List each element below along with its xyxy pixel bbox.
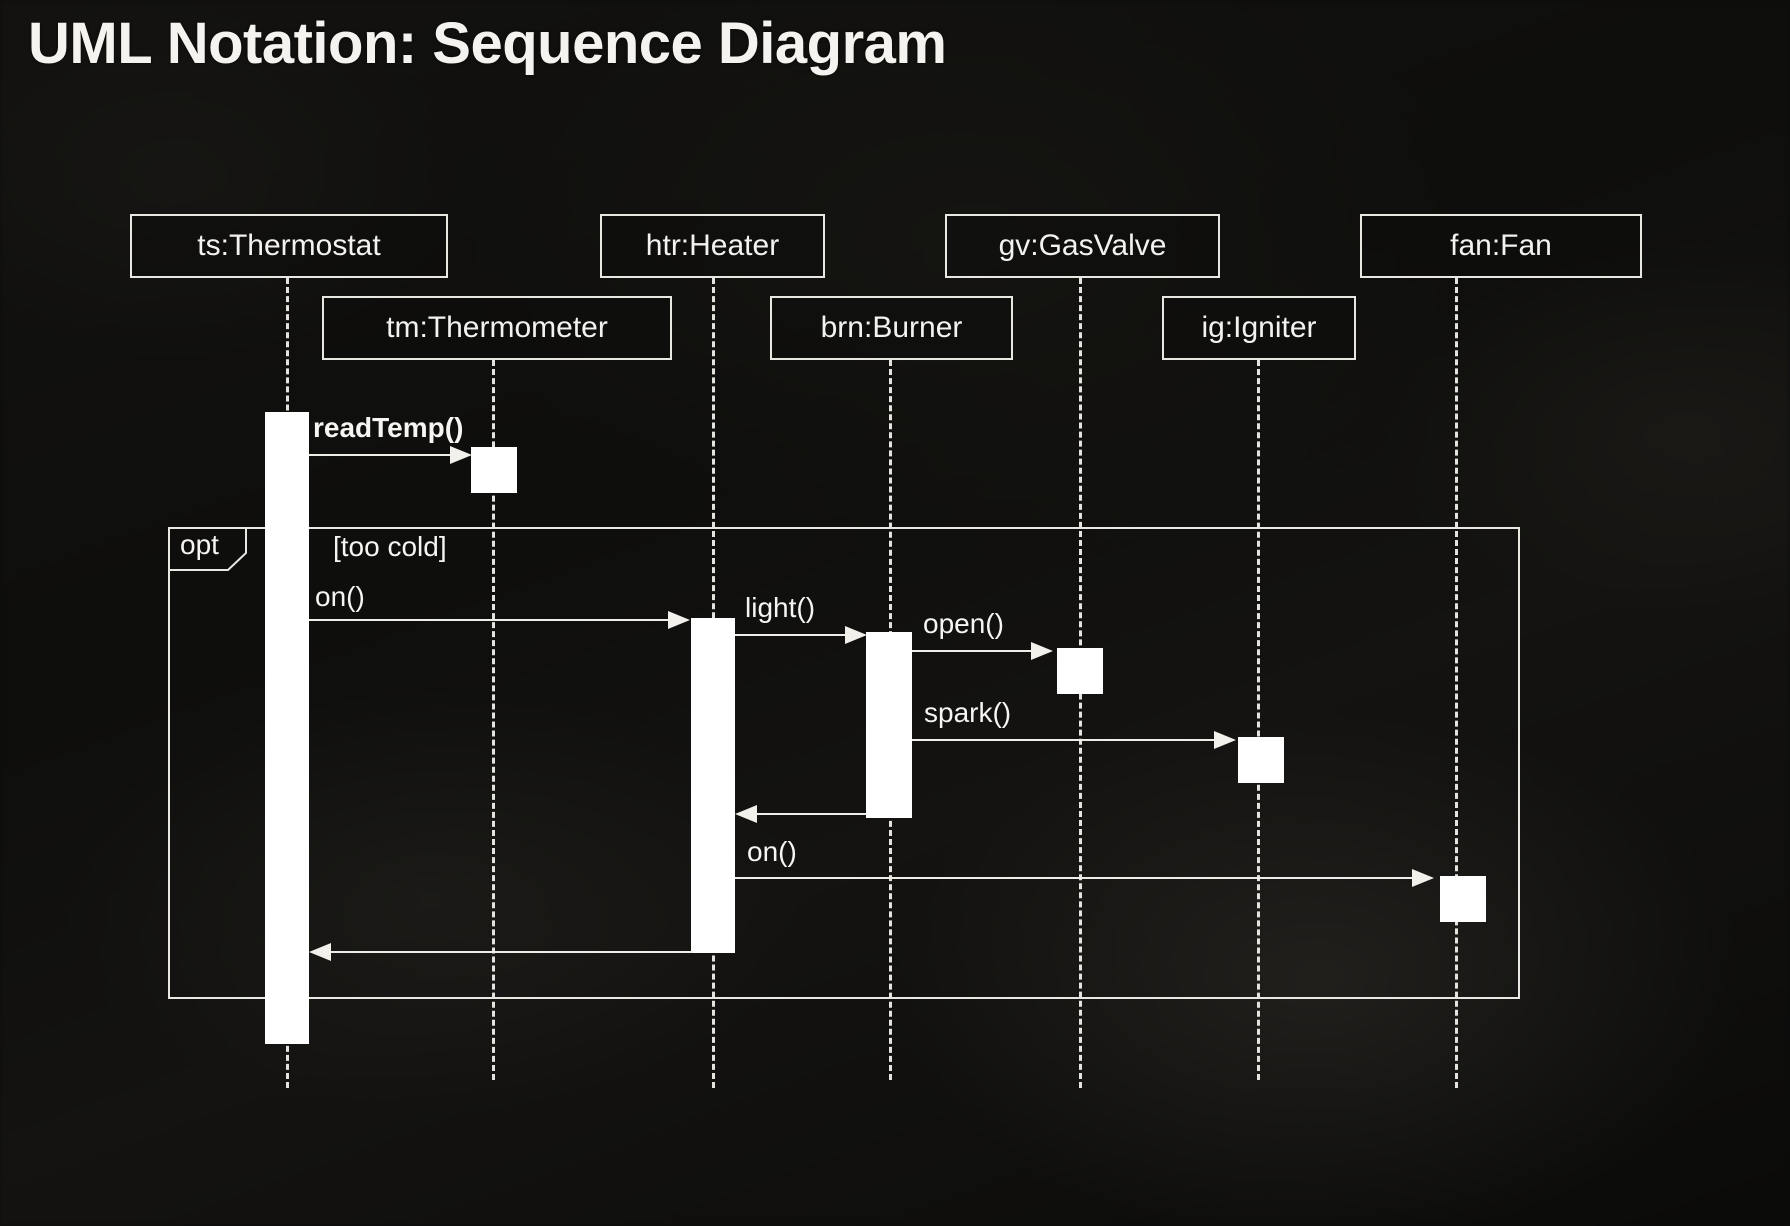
message-line-return-heater[interactable] (331, 951, 693, 953)
message-label-on-fan: on() (747, 836, 797, 868)
message-line-open[interactable] (912, 650, 1037, 652)
message-line-on-heater[interactable] (309, 619, 681, 621)
message-line-spark[interactable] (912, 739, 1220, 741)
message-label-readtemp: readTemp() (313, 412, 463, 444)
message-arrowhead-return-heater (309, 943, 331, 961)
lifeline-head-tm-label: tm:Thermometer (386, 311, 608, 345)
message-arrowhead-open (1031, 642, 1053, 660)
lifeline-head-ig[interactable]: ig:Igniter (1162, 296, 1356, 360)
activation-bar-brn[interactable] (866, 632, 912, 818)
message-arrowhead-on-fan (1412, 869, 1434, 887)
message-label-light: light() (745, 592, 815, 624)
message-label-on-heater: on() (315, 581, 365, 613)
combined-fragment-opt (168, 527, 1520, 999)
lifeline-head-brn[interactable]: brn:Burner (770, 296, 1013, 360)
message-line-readtemp[interactable] (309, 454, 464, 456)
page-title: UML Notation: Sequence Diagram (28, 10, 947, 77)
lifeline-head-fan[interactable]: fan:Fan (1360, 214, 1642, 278)
fragment-operator-tab: opt (168, 527, 264, 571)
message-arrowhead-light (845, 626, 867, 644)
lifeline-head-ig-label: ig:Igniter (1201, 311, 1316, 345)
message-arrowhead-readtemp (450, 446, 472, 464)
lifeline-head-fan-label: fan:Fan (1450, 229, 1552, 263)
lifeline-head-gv-label: gv:GasValve (999, 229, 1167, 263)
activation-bar-tm[interactable] (471, 447, 517, 493)
message-arrowhead-on-heater (668, 611, 690, 629)
activation-bar-gv[interactable] (1057, 648, 1103, 694)
message-label-spark: spark() (924, 697, 1011, 729)
message-line-light[interactable] (735, 634, 852, 636)
lifeline-head-tm[interactable]: tm:Thermometer (322, 296, 672, 360)
activation-bar-fan[interactable] (1440, 876, 1486, 922)
message-label-open: open() (923, 608, 1004, 640)
fragment-operator-label: opt (180, 529, 219, 561)
fragment-guard-label: [too cold] (333, 531, 447, 563)
lifeline-head-brn-label: brn:Burner (821, 311, 963, 345)
lifeline-head-htr-label: htr:Heater (646, 229, 779, 263)
message-arrowhead-return-burner (735, 805, 757, 823)
lifeline-head-gv[interactable]: gv:GasValve (945, 214, 1220, 278)
lifeline-head-ts[interactable]: ts:Thermostat (130, 214, 448, 278)
activation-bar-ts[interactable] (265, 412, 309, 1044)
lifeline-head-htr[interactable]: htr:Heater (600, 214, 825, 278)
activation-bar-ig[interactable] (1238, 737, 1284, 783)
lifeline-head-ts-label: ts:Thermostat (197, 229, 380, 263)
message-line-return-burner[interactable] (757, 813, 867, 815)
slide-canvas: UML Notation: Sequence Diagram ts:Thermo… (0, 0, 1790, 1226)
message-line-on-fan[interactable] (735, 877, 1419, 879)
message-arrowhead-spark (1214, 731, 1236, 749)
activation-bar-htr[interactable] (691, 618, 735, 953)
